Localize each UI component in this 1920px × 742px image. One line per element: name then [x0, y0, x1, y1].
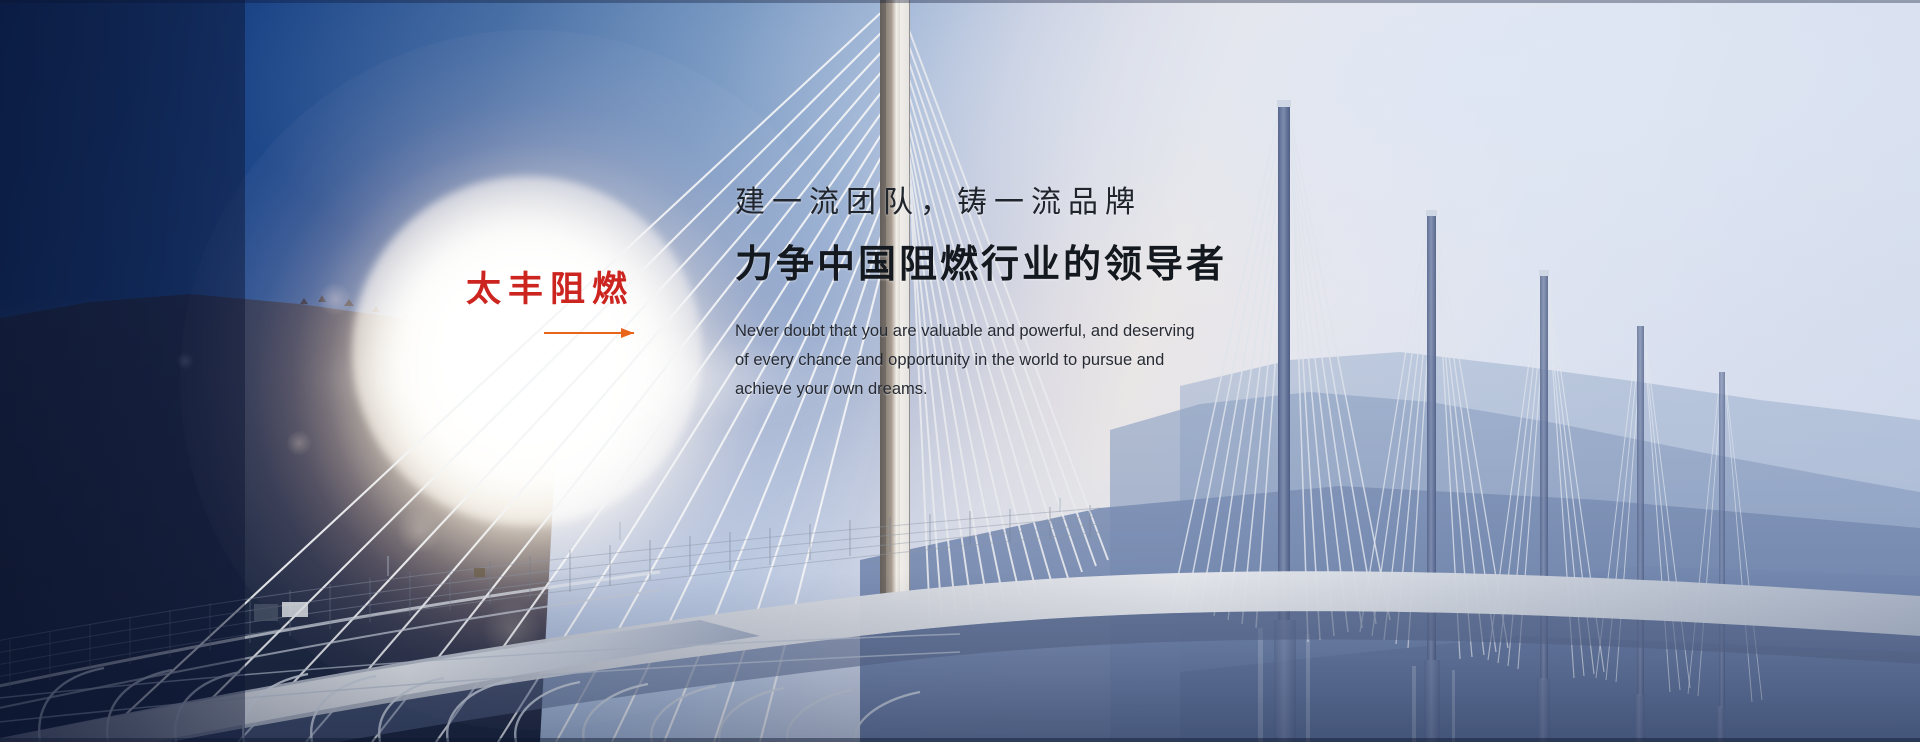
hero-banner: 太丰阻燃 建一流团队，铸一流品牌 力争中国阻燃行业的领导者 Never doub… — [0, 0, 1920, 742]
arrow-right-icon — [544, 327, 634, 339]
bottom-edge-strip — [0, 738, 1920, 742]
description-line-3: achieve your own dreams. — [735, 375, 1375, 404]
top-edge-strip — [0, 0, 1920, 3]
brand-logo-text: 太丰阻燃 — [466, 272, 634, 307]
headline-subtitle: 建一流团队，铸一流品牌 — [735, 185, 1375, 221]
headline-title: 力争中国阻燃行业的领导者 — [735, 243, 1375, 289]
brand-logo[interactable]: 太丰阻燃 — [466, 272, 634, 339]
bottom-dark-overlay — [0, 572, 1920, 742]
description-line-1: Never doubt that you are valuable and po… — [735, 317, 1375, 346]
hero-description: Never doubt that you are valuable and po… — [735, 317, 1375, 404]
description-line-2: of every chance and opportunity in the w… — [735, 346, 1375, 375]
hero-copy: 建一流团队，铸一流品牌 力争中国阻燃行业的领导者 Never doubt tha… — [735, 185, 1375, 404]
arrow-head — [621, 328, 634, 338]
